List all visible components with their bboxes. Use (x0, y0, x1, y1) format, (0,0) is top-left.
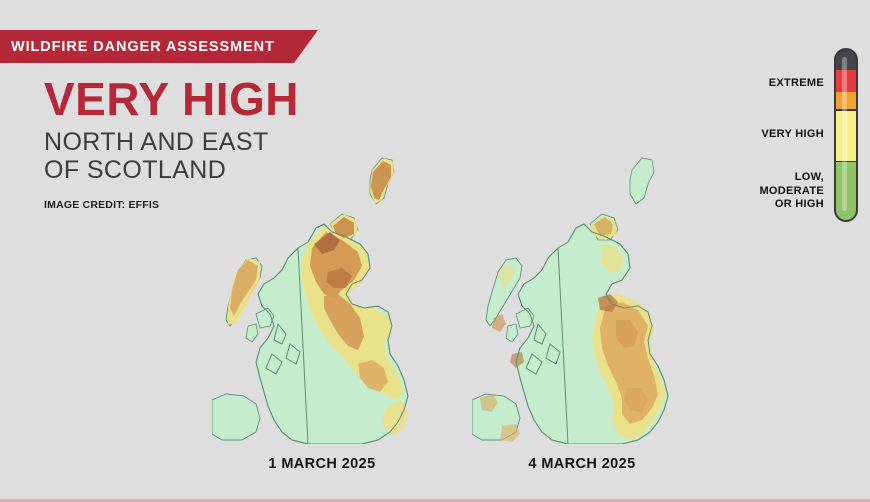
legend-label-very-high-text: VERY HIGH (736, 128, 824, 142)
legend-label-low-moderate-high: LOW, MODERATE OR HIGH (736, 171, 824, 212)
map-2-scotland (472, 148, 692, 444)
legend-label-moderate-text: MODERATE (736, 185, 824, 199)
legend-bar-gloss (842, 57, 847, 211)
header-banner-label: WILDFIRE DANGER ASSESSMENT (0, 39, 275, 55)
map-2-caption: 4 MARCH 2025 (472, 456, 692, 472)
legend-label-low-text: LOW, (736, 171, 824, 185)
map-1-scotland (212, 148, 432, 444)
wildfire-danger-graphic: WILDFIRE DANGER ASSESSMENT VERY HIGH NOR… (0, 0, 870, 502)
legend-label-extreme-text: EXTREME (736, 77, 824, 91)
legend-label-or-high-text: OR HIGH (736, 198, 824, 212)
legend-color-bar (834, 48, 858, 222)
legend: EXTREME VERY HIGH LOW, MODERATE OR HIGH (746, 44, 864, 226)
map-panel-1 (212, 148, 432, 444)
map-panel-2 (472, 148, 692, 444)
map-1-caption: 1 MARCH 2025 (212, 456, 432, 472)
legend-label-extreme: EXTREME (736, 77, 824, 91)
page-title: VERY HIGH (44, 74, 464, 124)
header-banner: WILDFIRE DANGER ASSESSMENT (0, 30, 318, 63)
legend-color-bar-body (834, 48, 858, 222)
legend-label-very-high: VERY HIGH (736, 128, 824, 142)
